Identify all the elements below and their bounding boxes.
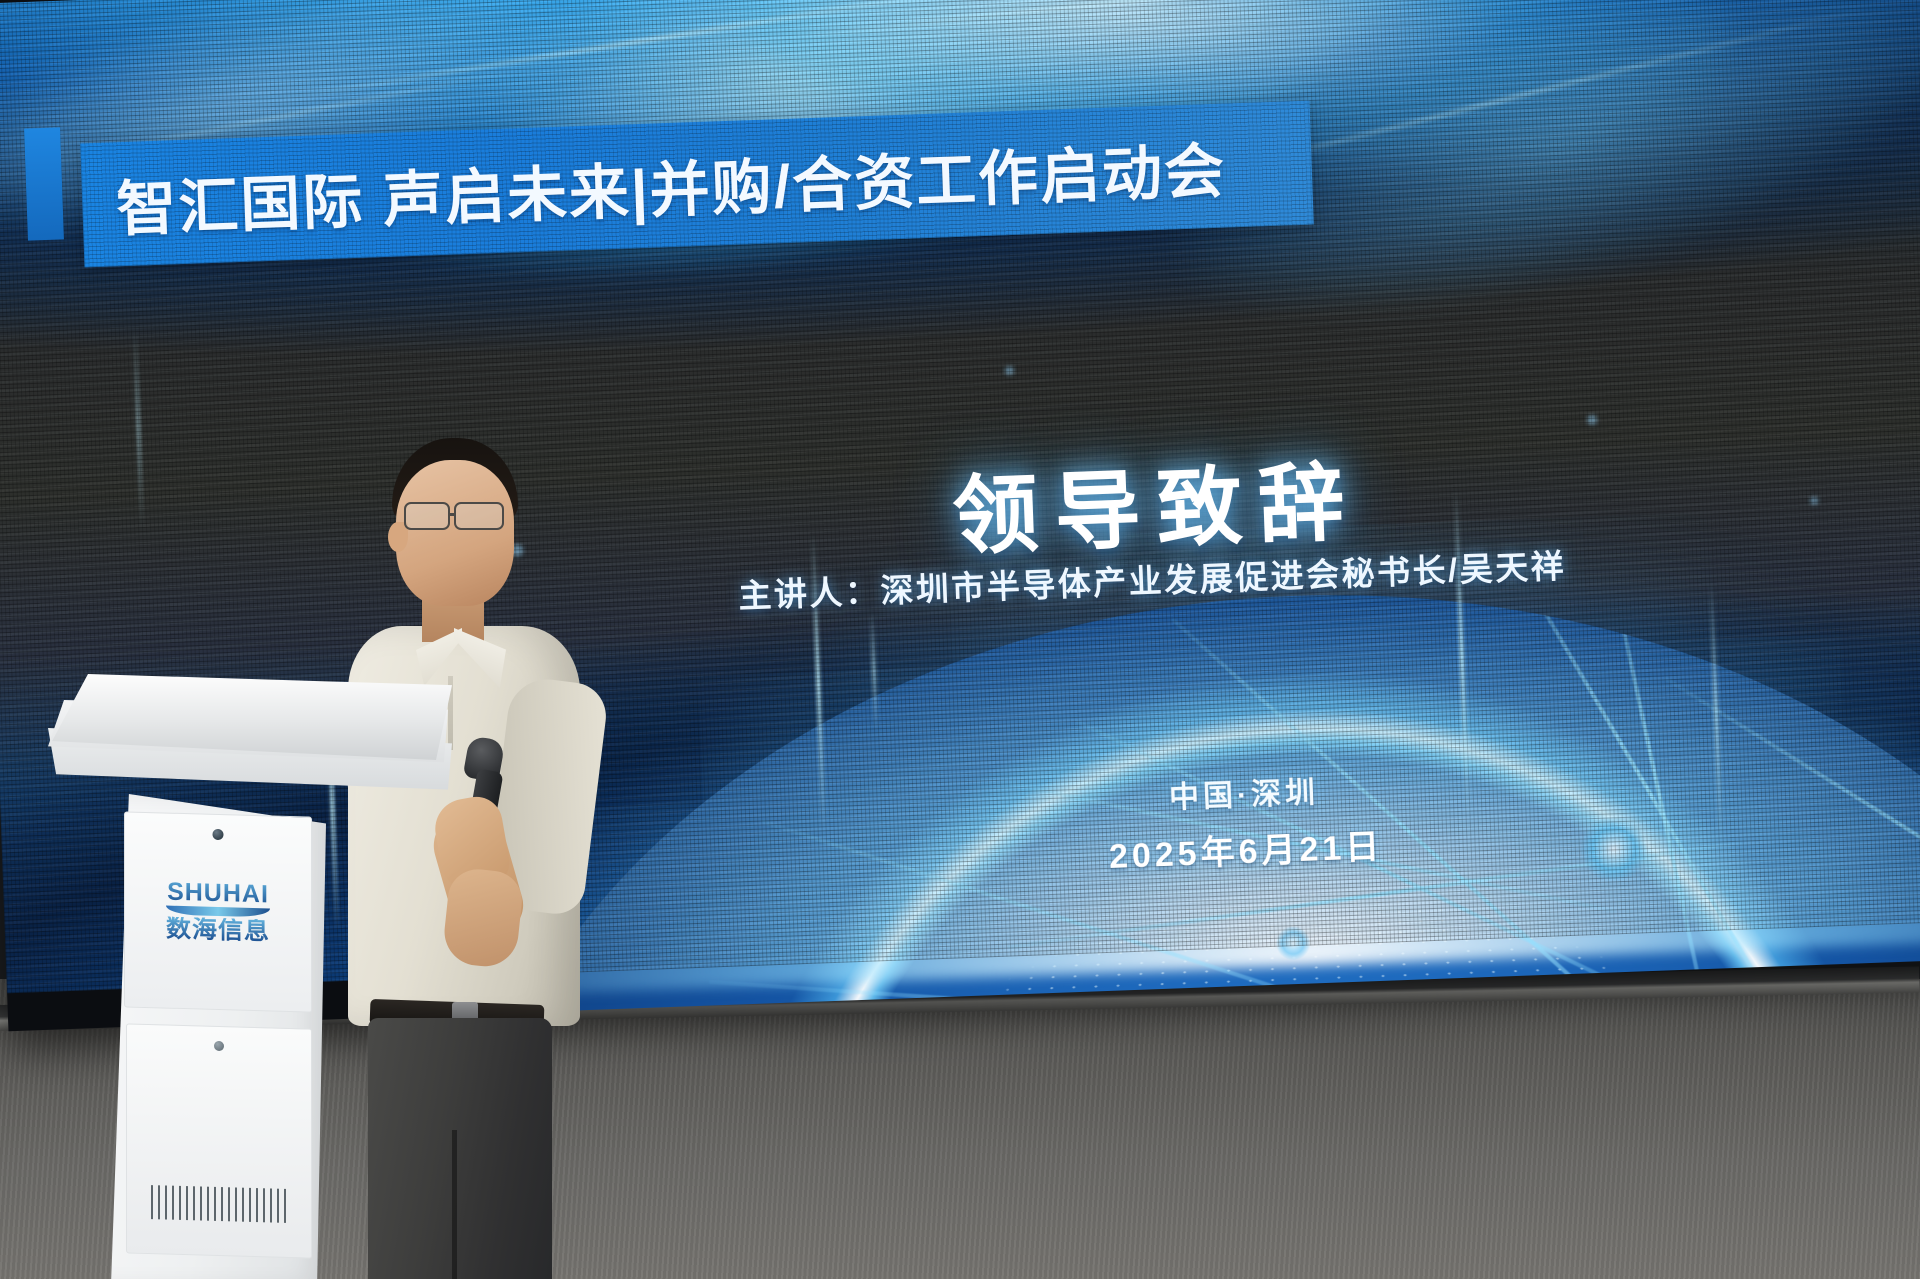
conference-photo-scene: 智汇国际 声启未来|并购/合资工作启动会 领导致辞 主讲人：深圳市半导体产业发展… [0, 0, 1920, 1279]
head [396, 460, 514, 606]
glasses-icon [404, 502, 516, 532]
podium: SHUHAI 数海信息 [52, 666, 472, 1279]
camera-dot-icon [213, 829, 224, 840]
podium-lower-panel [126, 1023, 312, 1258]
shuhai-logo: SHUHAI 数海信息 [166, 880, 270, 945]
glasses-lens-left [404, 502, 450, 530]
screw-icon [214, 1041, 224, 1051]
banner-accent-tab [24, 127, 64, 240]
slide-meta: 中国·深圳 2025年6月21日 [1033, 762, 1456, 880]
logo-text-en: SHUHAI [166, 880, 270, 908]
glasses-lens-right [454, 502, 504, 530]
slide-title-text: 智汇国际 声启未来|并购/合资工作启动会 [81, 122, 1227, 249]
logo-text-cn: 数海信息 [166, 917, 270, 945]
vent-grille-icon [151, 1185, 289, 1223]
podium-upper-panel: SHUHAI 数海信息 [124, 811, 312, 1012]
